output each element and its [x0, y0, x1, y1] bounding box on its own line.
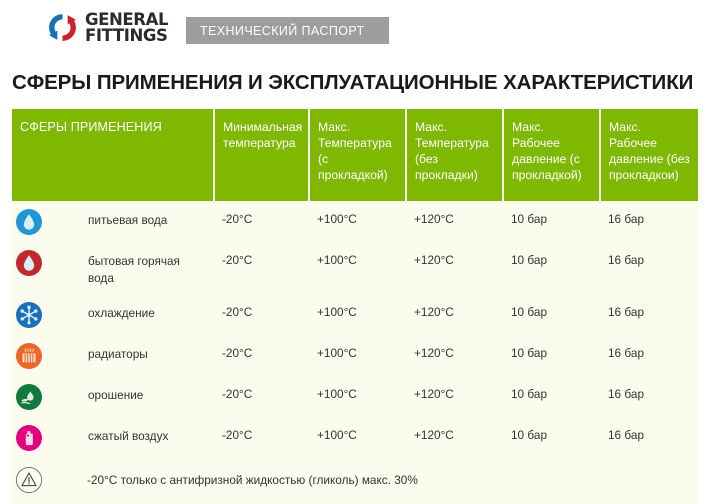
cell-max-temp-no-gasket: +120°C [406, 417, 503, 458]
application-label: орошение [88, 383, 143, 404]
cell-max-pressure-gasket: 10 бар [503, 335, 600, 376]
page-title: СФЕРЫ ПРИМЕНЕНИЯ И ЭКСПЛУАТАЦИОННЫЕ ХАРА… [0, 58, 710, 95]
application-label: бытовая горячая вода [88, 249, 206, 287]
column-header-application: СФЕРЫ ПРИМЕНЕНИЯ [12, 109, 214, 201]
brand-wordmark: GENERAL FITTINGS [85, 12, 168, 43]
table-row: бытовая горячая вода -20°C +100°C +120°C… [12, 242, 698, 294]
cell-min-temp: -20°C [214, 335, 309, 376]
column-header-max-temp-gasket: Макс. Температура (с прокладкой) [309, 109, 406, 201]
cell-application: бытовая горячая вода [12, 242, 214, 294]
cell-application: питьевая вода [12, 201, 214, 242]
cell-max-pressure-gasket: 10 бар [503, 294, 600, 335]
cell-max-pressure-no-gasket: 16 бар [600, 335, 698, 376]
cell-max-pressure-no-gasket: 16 бар [600, 201, 698, 242]
warning-triangle-icon [15, 466, 43, 494]
cell-application: охлаждение [12, 294, 214, 335]
cell-max-temp-gasket: +100°C [309, 242, 406, 294]
cell-max-pressure-no-gasket: 16 бар [600, 417, 698, 458]
cell-application: сжатый воздух [12, 417, 214, 458]
cell-max-temp-no-gasket: +120°C [406, 335, 503, 376]
cell-application: орошение [12, 376, 214, 417]
passport-label: ТЕХНИЧЕСКИЙ ПАСПОРТ [186, 24, 365, 38]
radiator-icon [16, 343, 42, 369]
brand-logo: GENERAL FITTINGS [46, 11, 168, 44]
application-label: питьевая вода [88, 208, 167, 229]
circular-arrows-logo-icon [46, 11, 79, 44]
column-header-max-pressure-gasket: Макс. Рабочее давление (с прокладкой) [503, 109, 600, 201]
column-header-min-temp: Минимальная температура [214, 109, 309, 201]
table-row: орошение -20°C +100°C +120°C 10 бар 16 б… [12, 376, 698, 417]
cell-max-temp-no-gasket: +120°C [406, 201, 503, 242]
footnote-text: -20°C только с антифризной жидкостью (гл… [87, 472, 418, 489]
table-footnote-row: -20°C только с антифризной жидкостью (гл… [12, 458, 698, 504]
cell-max-pressure-gasket: 10 бар [503, 201, 600, 242]
passport-banner: ТЕХНИЧЕСКИЙ ПАСПОРТ [186, 17, 389, 44]
cell-min-temp: -20°C [214, 376, 309, 417]
hot-water-drop-icon [16, 250, 42, 276]
cell-max-pressure-gasket: 10 бар [503, 376, 600, 417]
irrigation-sprinkler-icon [16, 384, 42, 410]
table-row: радиаторы -20°C +100°C +120°C 10 бар 16 … [12, 335, 698, 376]
cell-max-temp-gasket: +100°C [309, 294, 406, 335]
column-header-max-pressure-no-gasket: Макс. Рабочее давление (без прокладкои) [600, 109, 698, 201]
cell-min-temp: -20°C [214, 201, 309, 242]
cell-max-temp-no-gasket: +120°C [406, 376, 503, 417]
table-row: сжатый воздух -20°C +100°C +120°C 10 бар… [12, 417, 698, 458]
cell-max-temp-no-gasket: +120°C [406, 242, 503, 294]
cell-min-temp: -20°C [214, 417, 309, 458]
cell-min-temp: -20°C [214, 242, 309, 294]
cell-max-temp-gasket: +100°C [309, 376, 406, 417]
column-header-max-temp-no-gasket: Макс. Температура (без прокладки) [406, 109, 503, 201]
compressed-air-tank-icon [16, 425, 42, 451]
application-label: радиаторы [88, 342, 148, 363]
water-drop-icon [16, 209, 42, 235]
table-row: охлаждение -20°C +100°C +120°C 10 бар 16… [12, 294, 698, 335]
snowflake-icon [16, 302, 42, 328]
cell-max-pressure-gasket: 10 бар [503, 242, 600, 294]
cell-max-temp-gasket: +100°C [309, 201, 406, 242]
specifications-table: СФЕРЫ ПРИМЕНЕНИЯ Минимальная температура… [12, 109, 698, 504]
brand-name-line2: FITTINGS [85, 28, 168, 44]
cell-max-pressure-no-gasket: 16 бар [600, 294, 698, 335]
specifications-table-wrapper: СФЕРЫ ПРИМЕНЕНИЯ Минимальная температура… [12, 109, 698, 504]
table-row: питьевая вода -20°C +100°C +120°C 10 бар… [12, 201, 698, 242]
cell-max-temp-gasket: +100°C [309, 335, 406, 376]
application-label: сжатый воздух [88, 424, 168, 445]
cell-max-pressure-no-gasket: 16 бар [600, 376, 698, 417]
cell-max-pressure-gasket: 10 бар [503, 417, 600, 458]
cell-max-temp-no-gasket: +120°C [406, 294, 503, 335]
application-label: охлаждение [88, 301, 155, 322]
cell-footnote: -20°C только с антифризной жидкостью (гл… [12, 458, 698, 504]
page-header: GENERAL FITTINGS ТЕХНИЧЕСКИЙ ПАСПОРТ [0, 0, 710, 58]
cell-max-pressure-no-gasket: 16 бар [600, 242, 698, 294]
cell-application: радиаторы [12, 335, 214, 376]
table-header-row: СФЕРЫ ПРИМЕНЕНИЯ Минимальная температура… [12, 109, 698, 201]
cell-min-temp: -20°C [214, 294, 309, 335]
cell-max-temp-gasket: +100°C [309, 417, 406, 458]
